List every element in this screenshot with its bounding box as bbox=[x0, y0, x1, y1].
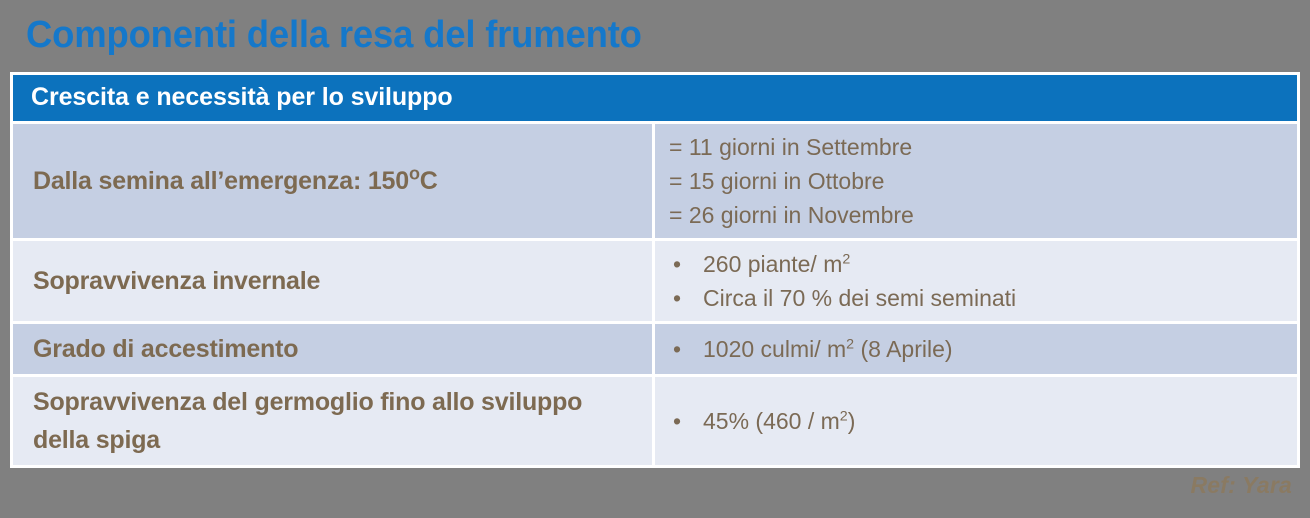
value-line: = 26 giorni in Novembre bbox=[669, 198, 1283, 232]
row-label-superscript: o bbox=[409, 164, 420, 184]
bullet-tail: (8 Aprile) bbox=[854, 336, 952, 362]
bullet-line: •1020 culmi/ m2 (8 Aprile) bbox=[669, 332, 1283, 366]
bullet-line: •Circa il 70 % dei semi seminati bbox=[669, 281, 1283, 315]
bullet-line: •260 piante/ m2 bbox=[669, 247, 1283, 281]
page-title: Componenti della resa del frumento bbox=[26, 12, 642, 58]
row-values: = 11 giorni in Settembre = 15 giorni in … bbox=[655, 124, 1297, 238]
bullet-icon: • bbox=[673, 332, 681, 366]
bullet-superscript: 2 bbox=[846, 336, 854, 352]
row-values: •45% (460 / m2) bbox=[655, 377, 1297, 465]
row-values: •260 piante/ m2 •Circa il 70 % dei semi … bbox=[655, 241, 1297, 321]
table-row: Sopravvivenza invernale •260 piante/ m2 … bbox=[13, 241, 1297, 321]
reference-credit: Ref: Yara bbox=[1190, 472, 1292, 499]
row-label: Grado di accestimento bbox=[13, 324, 655, 374]
bullet-icon: • bbox=[673, 404, 681, 438]
bullet-text: 45% (460 / m bbox=[703, 408, 840, 434]
bullet-superscript: 2 bbox=[842, 251, 850, 267]
table-header-row: Crescita e necessità per lo sviluppo bbox=[13, 75, 1297, 121]
bullet-icon: • bbox=[673, 247, 681, 281]
bullet-text: Circa il 70 % dei semi seminati bbox=[703, 285, 1016, 311]
row-label-tail: C bbox=[420, 167, 438, 195]
table: Crescita e necessità per lo sviluppo Dal… bbox=[13, 75, 1297, 465]
row-label: Sopravvivenza del germoglio fino allo sv… bbox=[13, 377, 655, 465]
row-label: Sopravvivenza invernale bbox=[13, 241, 655, 321]
table-row: Grado di accestimento •1020 culmi/ m2 (8… bbox=[13, 324, 1297, 374]
bullet-text: 260 piante/ m bbox=[703, 251, 842, 277]
bullet-superscript: 2 bbox=[840, 408, 848, 424]
table-row: Sopravvivenza del germoglio fino allo sv… bbox=[13, 377, 1297, 465]
bullet-icon: • bbox=[673, 281, 681, 315]
bullet-text: 1020 culmi/ m bbox=[703, 336, 846, 362]
row-values: •1020 culmi/ m2 (8 Aprile) bbox=[655, 324, 1297, 374]
row-label-text: Dalla semina all’emergenza: 150 bbox=[33, 167, 409, 195]
table-header-label: Crescita e necessità per lo sviluppo bbox=[13, 75, 1297, 121]
value-line: = 15 giorni in Ottobre bbox=[669, 164, 1283, 198]
value-line: = 11 giorni in Settembre bbox=[669, 130, 1283, 164]
bullet-line: •45% (460 / m2) bbox=[669, 404, 1283, 438]
growth-requirements-table: Crescita e necessità per lo sviluppo Dal… bbox=[10, 72, 1300, 468]
bullet-tail: ) bbox=[848, 408, 856, 434]
row-label: Dalla semina all’emergenza: 150oC bbox=[13, 124, 655, 238]
table-row: Dalla semina all’emergenza: 150oC = 11 g… bbox=[13, 124, 1297, 238]
